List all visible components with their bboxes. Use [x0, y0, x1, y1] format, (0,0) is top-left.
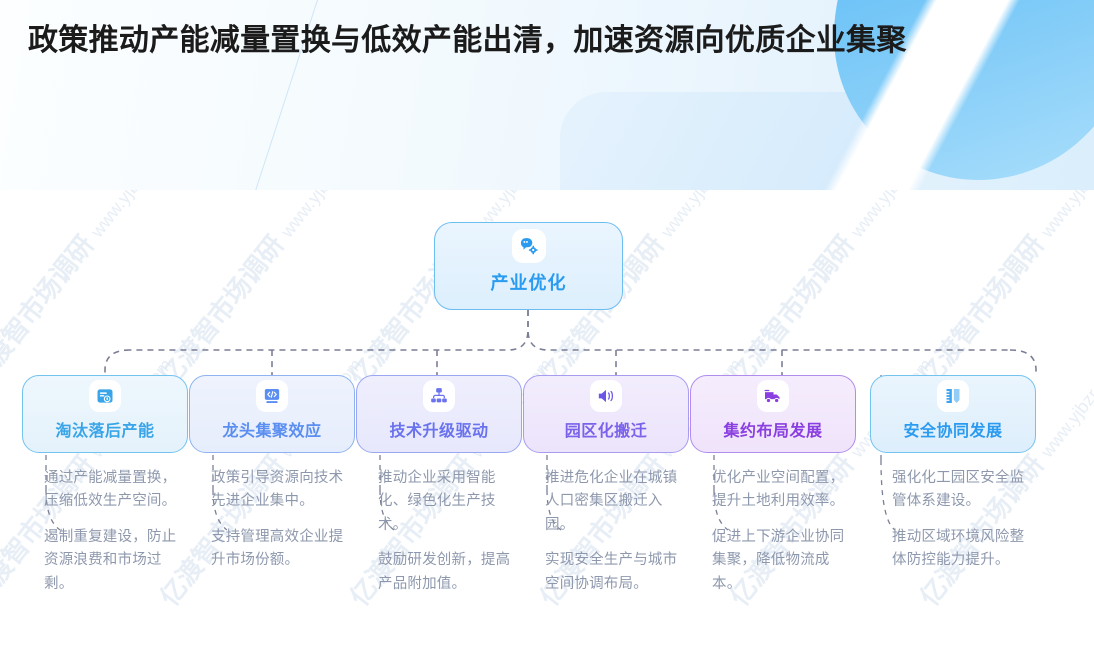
- leaf-card-label: 集约布局发展: [691, 417, 855, 441]
- id-card-icon: [89, 380, 121, 412]
- bullet-list: 推动企业采用智能化、绿色化生产技术。鼓励研发创新，提高产品附加值。: [356, 467, 522, 596]
- bullet-item: 推动企业采用智能化、绿色化生产技术。: [378, 467, 522, 537]
- leaf-column: 龙头集聚效应政策引导资源向技术先进企业集中。支持管理高效企业提升市场份额。: [189, 375, 355, 585]
- diagram-canvas: 亿渡智市场调研 www.yjbzr.com亿渡智市场调研 www.yjbzr.c…: [0, 190, 1094, 657]
- bullet-item: 实现安全生产与城市空间协调布局。: [545, 549, 689, 596]
- ruler-icon: [937, 380, 969, 412]
- bullet-item: 促进上下游企业协同集聚，降低物流成本。: [712, 526, 856, 596]
- leaf-column: 安全协同发展强化化工园区安全监管体系建设。推动区域环境风险整体防控能力提升。: [870, 375, 1036, 585]
- bullet-item: 支持管理高效企业提升市场份额。: [211, 526, 355, 573]
- page-title: 政策推动产能减量置换与低效产能出清，加速资源向优质企业集聚: [28, 20, 1048, 61]
- slide-header: 政策推动产能减量置换与低效产能出清，加速资源向优质企业集聚: [0, 0, 1094, 190]
- bullet-list: 强化化工园区安全监管体系建设。推动区域环境风险整体防控能力提升。: [870, 467, 1036, 573]
- bullet-item: 遏制重复建设，防止资源浪费和市场过剩。: [44, 526, 188, 596]
- bullet-item: 强化化工园区安全监管体系建设。: [892, 467, 1036, 514]
- leaf-card-1[interactable]: 淘汰落后产能: [22, 375, 188, 453]
- bullet-list: 优化产业空间配置，提升土地利用效率。促进上下游企业协同集聚，降低物流成本。: [690, 467, 856, 596]
- leaf-card-2[interactable]: 龙头集聚效应: [189, 375, 355, 453]
- bullet-item: 优化产业空间配置，提升土地利用效率。: [712, 467, 856, 514]
- leaf-card-label: 安全协同发展: [871, 417, 1035, 441]
- leaf-card-group: 淘汰落后产能通过产能减量置换，压缩低效生产空间。遏制重复建设，防止资源浪费和市场…: [0, 190, 1094, 657]
- bullet-item: 鼓励研发创新，提高产品附加值。: [378, 549, 522, 596]
- bullet-list: 政策引导资源向技术先进企业集中。支持管理高效企业提升市场份额。: [189, 467, 355, 573]
- leaf-card-label: 技术升级驱动: [357, 417, 521, 441]
- leaf-card-5[interactable]: 集约布局发展: [690, 375, 856, 453]
- hierarchy-icon: [423, 380, 455, 412]
- bullet-item: 通过产能减量置换，压缩低效生产空间。: [44, 467, 188, 514]
- leaf-card-label: 龙头集聚效应: [190, 417, 354, 441]
- leaf-column: 园区化搬迁推进危化企业在城镇人口密集区搬迁入园。实现安全生产与城市空间协调布局。: [523, 375, 689, 608]
- code-icon: [256, 380, 288, 412]
- leaf-card-4[interactable]: 园区化搬迁: [523, 375, 689, 453]
- leaf-column: 集约布局发展优化产业空间配置，提升土地利用效率。促进上下游企业协同集聚，降低物流…: [690, 375, 856, 608]
- slide-root: 政策推动产能减量置换与低效产能出清，加速资源向优质企业集聚 亿渡智市场调研 ww…: [0, 0, 1094, 657]
- leaf-card-label: 淘汰落后产能: [23, 417, 187, 441]
- bullet-item: 推动区域环境风险整体防控能力提升。: [892, 526, 1036, 573]
- bullet-item: 政策引导资源向技术先进企业集中。: [211, 467, 355, 514]
- bullet-list: 推进危化企业在城镇人口密集区搬迁入园。实现安全生产与城市空间协调布局。: [523, 467, 689, 596]
- bullet-list: 通过产能减量置换，压缩低效生产空间。遏制重复建设，防止资源浪费和市场过剩。: [22, 467, 188, 596]
- leaf-card-3[interactable]: 技术升级驱动: [356, 375, 522, 453]
- leaf-card-label: 园区化搬迁: [524, 417, 688, 441]
- leaf-card-6[interactable]: 安全协同发展: [870, 375, 1036, 453]
- leaf-column: 技术升级驱动推动企业采用智能化、绿色化生产技术。鼓励研发创新，提高产品附加值。: [356, 375, 522, 608]
- leaf-column: 淘汰落后产能通过产能减量置换，压缩低效生产空间。遏制重复建设，防止资源浪费和市场…: [22, 375, 188, 608]
- speaker-icon: [590, 380, 622, 412]
- truck-icon: [757, 380, 789, 412]
- bullet-item: 推进危化企业在城镇人口密集区搬迁入园。: [545, 467, 689, 537]
